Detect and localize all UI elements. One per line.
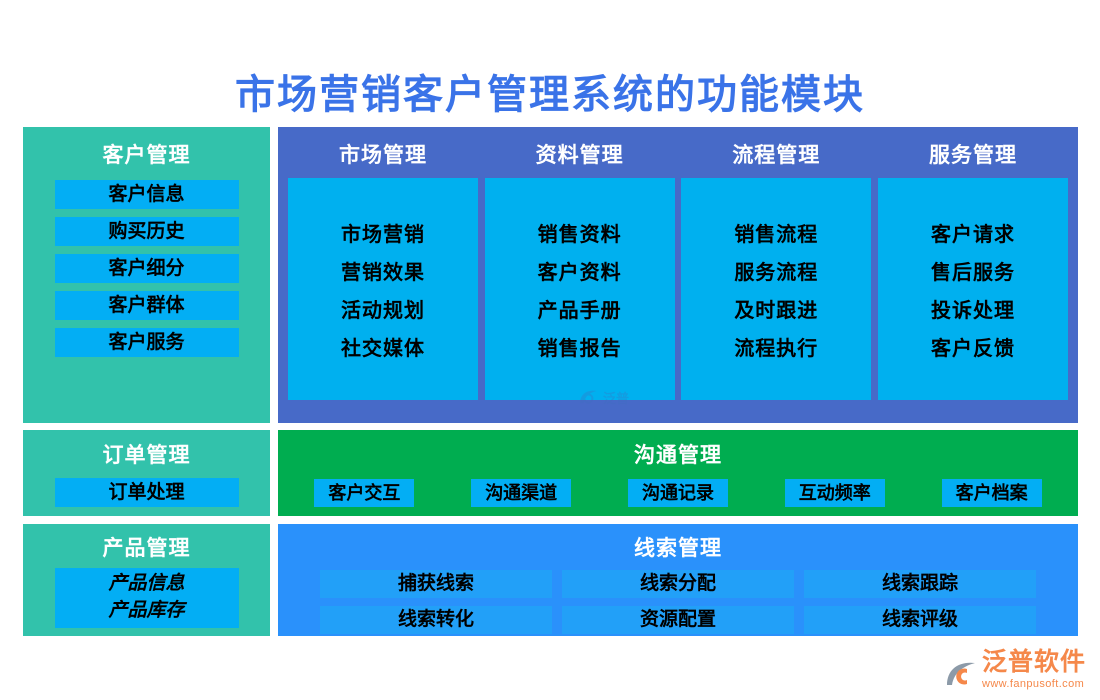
column-item-box: 销售流程 服务流程 及时跟进 流程执行	[681, 178, 871, 400]
fanpu-swirl-icon	[945, 660, 977, 690]
list-item[interactable]: 客户档案	[942, 479, 1042, 507]
panel-communication-management: 沟通管理 客户交互 沟通渠道 沟通记录 互动频率 客户档案	[278, 430, 1078, 516]
panel-title-product-management: 产品管理	[23, 532, 270, 562]
panel-lead-management: 线索管理 捕获线索 线索分配 线索跟踪 线索转化 资源配置 线索评级	[278, 524, 1078, 636]
list-item[interactable]: 销售资料	[538, 218, 622, 247]
panel-title-communication-management: 沟通管理	[278, 439, 1078, 469]
list-item[interactable]: 资源配置	[562, 606, 794, 634]
core-modules-columns: 市场管理 市场营销 营销效果 活动规划 社交媒体 资料管理 销售资料 客户资料 …	[278, 127, 1078, 400]
list-item[interactable]: 客户细分	[55, 254, 239, 283]
brand-url: www.fanpusoft.com	[982, 678, 1086, 690]
list-item[interactable]: 产品手册	[538, 294, 622, 323]
list-item[interactable]: 线索分配	[562, 570, 794, 598]
panel-title-order-management: 订单管理	[23, 439, 270, 469]
product-item-group: 产品信息 产品库存	[55, 568, 239, 628]
column-material-management: 资料管理 销售资料 客户资料 产品手册 销售报告	[485, 127, 675, 400]
page-title: 市场营销客户管理系统的功能模块	[0, 62, 1100, 120]
list-item[interactable]: 客户群体	[55, 291, 239, 320]
list-item[interactable]: 客户交互	[314, 479, 414, 507]
list-item[interactable]: 线索跟踪	[804, 570, 1036, 598]
list-item[interactable]: 客户信息	[55, 180, 239, 209]
column-service-management: 服务管理 客户请求 售后服务 投诉处理 客户反馈	[878, 127, 1068, 400]
column-title: 资料管理	[485, 139, 675, 169]
panel-title-customer-management: 客户管理	[23, 139, 270, 169]
list-item[interactable]: 互动频率	[785, 479, 885, 507]
list-item[interactable]: 活动规划	[341, 294, 425, 323]
list-item[interactable]: 投诉处理	[931, 294, 1015, 323]
list-item[interactable]: 销售报告	[538, 332, 622, 361]
diagram-canvas: 市场营销客户管理系统的功能模块 客户管理 客户信息 购买历史 客户细分 客户群体…	[0, 0, 1100, 700]
list-item[interactable]: 市场营销	[341, 218, 425, 247]
column-title: 流程管理	[681, 139, 871, 169]
list-item[interactable]: 线索评级	[804, 606, 1036, 634]
list-item[interactable]: 订单处理	[55, 478, 239, 507]
panel-product-management: 产品管理 产品信息 产品库存	[23, 524, 270, 636]
list-item[interactable]: 社交媒体	[341, 332, 425, 361]
brand-logo: 泛普软件 www.fanpusoft.com	[945, 650, 1086, 690]
panel-title-lead-management: 线索管理	[278, 532, 1078, 562]
order-item-list: 订单处理	[23, 478, 270, 507]
list-item[interactable]: 沟通记录	[628, 479, 728, 507]
column-item-box: 市场营销 营销效果 活动规划 社交媒体	[288, 178, 478, 400]
list-item[interactable]: 产品信息	[55, 570, 239, 597]
column-title: 服务管理	[878, 139, 1068, 169]
list-item[interactable]: 服务流程	[734, 256, 818, 285]
list-item[interactable]: 客户资料	[538, 256, 622, 285]
list-item[interactable]: 捕获线索	[320, 570, 552, 598]
panel-customer-management: 客户管理 客户信息 购买历史 客户细分 客户群体 客户服务	[23, 127, 270, 423]
communication-chip-list: 客户交互 沟通渠道 沟通记录 互动频率 客户档案	[278, 479, 1078, 507]
list-item[interactable]: 客户反馈	[931, 332, 1015, 361]
list-item[interactable]: 流程执行	[734, 332, 818, 361]
product-item-list: 产品信息 产品库存	[23, 568, 270, 628]
panel-order-management: 订单管理 订单处理	[23, 430, 270, 516]
list-item[interactable]: 购买历史	[55, 217, 239, 246]
brand-text: 泛普软件 www.fanpusoft.com	[982, 650, 1086, 690]
list-item[interactable]: 客户请求	[931, 218, 1015, 247]
list-item[interactable]: 客户服务	[55, 328, 239, 357]
column-title: 市场管理	[288, 139, 478, 169]
list-item[interactable]: 售后服务	[931, 256, 1015, 285]
list-item[interactable]: 及时跟进	[734, 294, 818, 323]
brand-name: 泛普软件	[982, 650, 1086, 675]
customer-item-list: 客户信息 购买历史 客户细分 客户群体 客户服务	[23, 180, 270, 357]
list-item[interactable]: 营销效果	[341, 256, 425, 285]
column-item-box: 销售资料 客户资料 产品手册 销售报告	[485, 178, 675, 400]
column-process-management: 流程管理 销售流程 服务流程 及时跟进 流程执行	[681, 127, 871, 400]
panel-core-modules: 市场管理 市场营销 营销效果 活动规划 社交媒体 资料管理 销售资料 客户资料 …	[278, 127, 1078, 423]
list-item[interactable]: 产品库存	[55, 597, 239, 624]
column-market-management: 市场管理 市场营销 营销效果 活动规划 社交媒体	[288, 127, 478, 400]
lead-chip-grid: 捕获线索 线索分配 线索跟踪 线索转化 资源配置 线索评级	[278, 570, 1078, 634]
list-item[interactable]: 线索转化	[320, 606, 552, 634]
list-item[interactable]: 销售流程	[734, 218, 818, 247]
column-item-box: 客户请求 售后服务 投诉处理 客户反馈	[878, 178, 1068, 400]
list-item[interactable]: 沟通渠道	[471, 479, 571, 507]
